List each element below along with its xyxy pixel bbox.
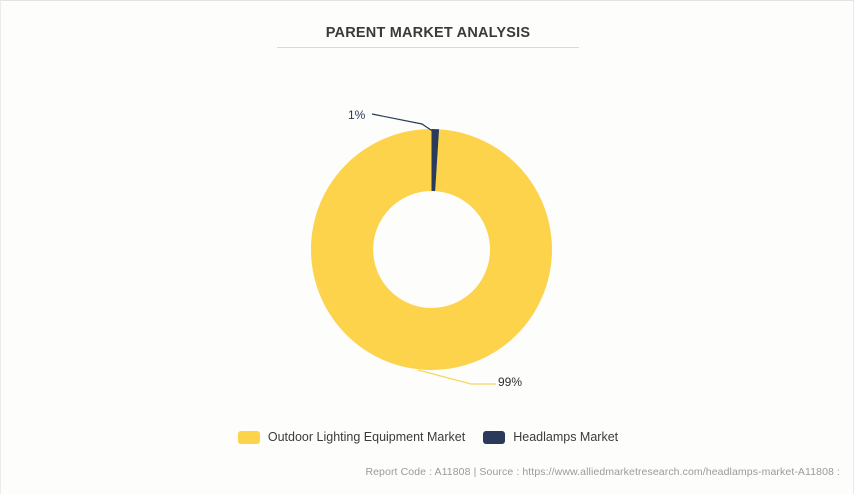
chart-card: PARENT MARKET ANALYSIS 1% 99% Outdoor Li…	[0, 0, 854, 494]
page-title: PARENT MARKET ANALYSIS	[1, 25, 854, 41]
leader-line-large-slice	[418, 370, 496, 384]
title-divider	[277, 47, 579, 48]
legend-swatch-headlamps-icon	[483, 431, 505, 444]
donut-chart-svg	[311, 129, 552, 370]
data-label-small-slice: 1%	[348, 108, 365, 122]
legend-item-outdoor-lighting[interactable]: Outdoor Lighting Equipment Market	[238, 430, 465, 444]
donut-chart	[311, 129, 552, 370]
legend-item-headlamps[interactable]: Headlamps Market	[483, 430, 618, 444]
chart-legend: Outdoor Lighting Equipment Market Headla…	[1, 430, 854, 444]
donut-slice-outdoor-lighting[interactable]	[311, 129, 552, 370]
footer-source-text: Report Code : A11808 | Source : https://…	[365, 466, 840, 478]
data-label-large-slice: 99%	[498, 375, 522, 389]
legend-swatch-outdoor-lighting-icon	[238, 431, 260, 444]
legend-label-headlamps: Headlamps Market	[513, 430, 618, 444]
legend-label-outdoor-lighting: Outdoor Lighting Equipment Market	[268, 430, 465, 444]
